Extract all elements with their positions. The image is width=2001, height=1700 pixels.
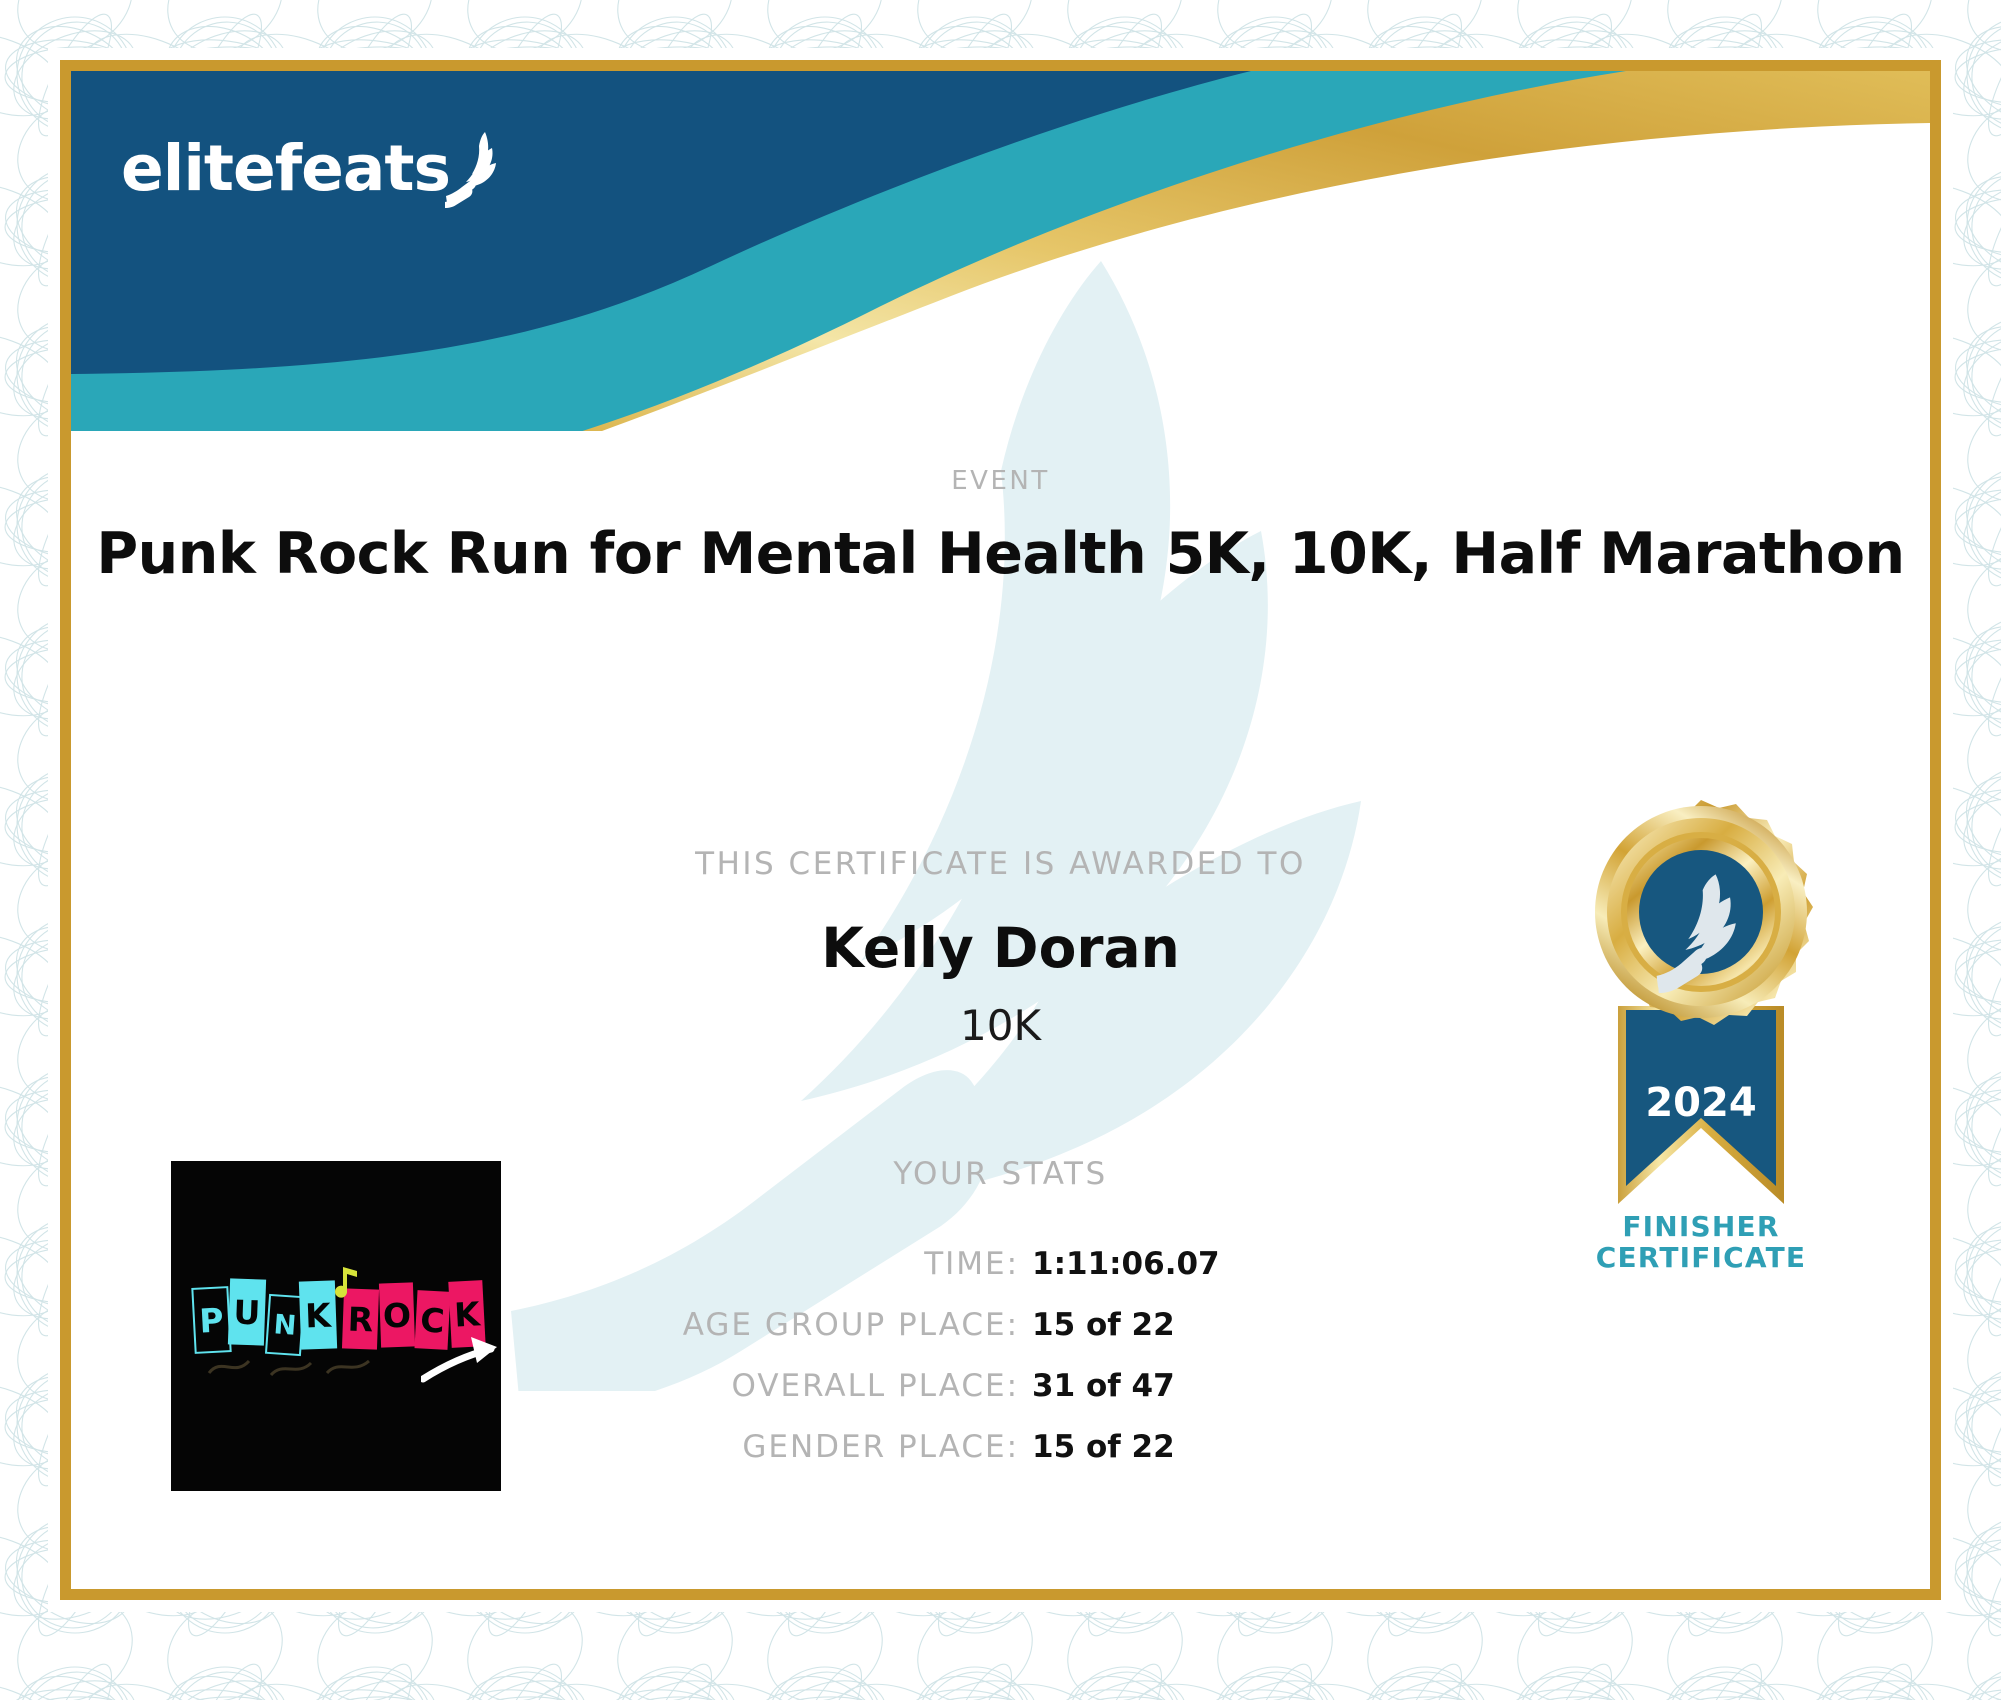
- stat-row-age-group-place: AGE GROUP PLACE: 15 of 22: [571, 1307, 1271, 1349]
- stat-label-overall-place: OVERALL PLACE:: [571, 1368, 1019, 1404]
- stat-value-gender-place: 15 of 22: [1032, 1429, 1271, 1465]
- stat-label-time: TIME:: [571, 1246, 1019, 1282]
- event-title: Punk Rock Run for Mental Health 5K, 10K,…: [71, 521, 1930, 587]
- stat-value-overall-place: 31 of 47: [1032, 1368, 1271, 1404]
- stat-label-age-group-place: AGE GROUP PLACE:: [571, 1307, 1019, 1343]
- arrow-icon: [421, 1335, 501, 1383]
- ransom-letter: O: [379, 1282, 415, 1347]
- stat-value-time: 1:11:06.07: [1032, 1246, 1271, 1282]
- stat-value-age-group-place: 15 of 22: [1032, 1307, 1271, 1343]
- badge-year: 2024: [1645, 1080, 1756, 1126]
- certificate-card: elitefeats EVENT Punk Rock Run for Menta…: [60, 60, 1941, 1600]
- ransom-letter: U: [228, 1278, 266, 1345]
- stat-row-time: TIME: 1:11:06.07: [571, 1246, 1271, 1288]
- stats-table: TIME: 1:11:06.07 AGE GROUP PLACE: 15 of …: [571, 1246, 1271, 1490]
- punk-rock-wordmark: P U N K R O C K: [171, 1273, 501, 1383]
- event-logo-image: P U N K R O C K: [171, 1161, 501, 1491]
- graffiti-decor-icon: [201, 1343, 391, 1383]
- badge-caption: FINISHER CERTIFICATE: [1546, 1211, 1856, 1274]
- finisher-badge: 2024 FINISHER CERTIFICATE: [1546, 796, 1856, 1296]
- badge-caption-line1: FINISHER: [1546, 1211, 1856, 1242]
- stat-row-overall-place: OVERALL PLACE: 31 of 47: [571, 1368, 1271, 1410]
- medal-rosette-icon: 2024: [1546, 796, 1856, 1216]
- stat-label-gender-place: GENDER PLACE:: [571, 1429, 1019, 1465]
- stat-row-gender-place: GENDER PLACE: 15 of 22: [571, 1429, 1271, 1471]
- badge-caption-line2: CERTIFICATE: [1546, 1242, 1856, 1273]
- music-note-icon: [331, 1265, 361, 1301]
- event-label: EVENT: [71, 466, 1930, 496]
